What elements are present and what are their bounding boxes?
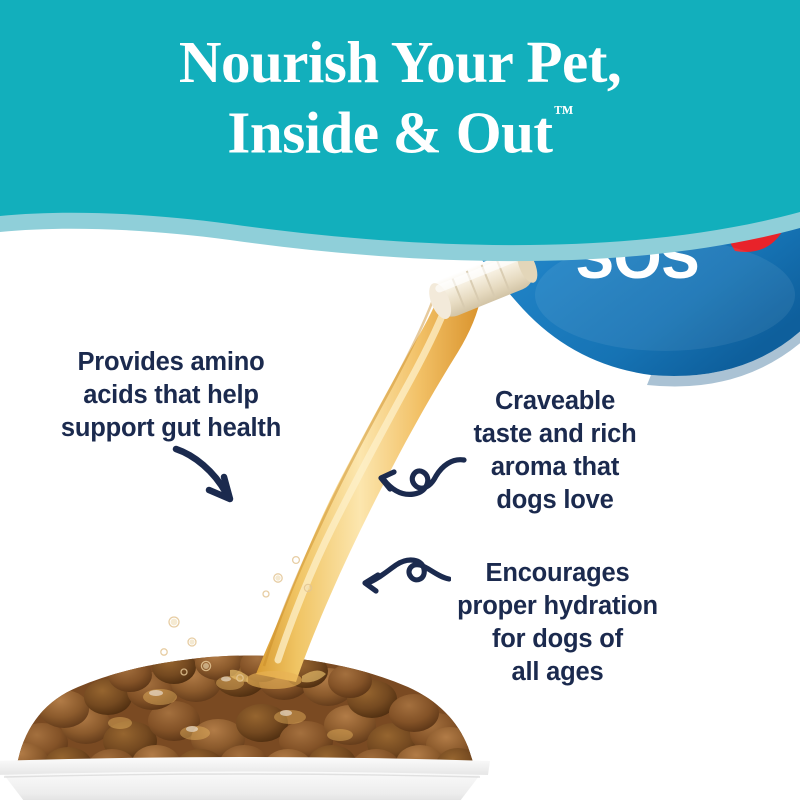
annotation-hydration-line-3: for dogs of [425,623,690,656]
headline-line-2-text: Inside & Out [227,100,552,166]
curved-down-right-arrow-icon [168,443,263,515]
annotation-gut-health: Provides amino acids that help support g… [36,346,306,445]
looped-left-arrow-icon [356,553,451,605]
annotation-taste-line-2: taste and rich [440,418,670,451]
annotation-hydration-line-2: proper hydration [425,590,690,623]
annotation-hydration-line-4: all ages [425,656,690,689]
page-title: Nourish Your Pet, Inside & Out™ [0,33,800,162]
headline-line-2: Inside & Out™ [0,97,800,162]
cap-illustration [418,238,558,333]
pouch-spout-cap [418,238,558,333]
looped-left-arrow-icon [372,452,467,507]
annotation-taste-line-3: aroma that [440,451,670,484]
annotation-craveable-taste: Craveable taste and rich aroma that dogs… [440,385,670,518]
annotation-taste-line-4: dogs love [440,484,670,517]
arrow-hydration-svg [356,553,451,605]
annotation-taste-line-1: Craveable [440,385,670,418]
annotation-gut-health-line-1: Provides amino [36,346,306,379]
annotation-hydration-line-1: Encourages [425,557,690,590]
arrow-taste-svg [372,452,467,507]
annotation-hydration: Encourages proper hydration for dogs of … [425,557,690,690]
cap-body [424,244,542,323]
arrow-gut-svg [168,443,263,515]
promo-graphic: SOS [0,0,800,800]
annotation-gut-health-line-3: support gut health [36,412,306,445]
annotation-gut-health-line-2: acids that help [36,379,306,412]
headline-line-1: Nourish Your Pet, [0,33,800,91]
trademark-symbol: ™ [554,102,574,124]
